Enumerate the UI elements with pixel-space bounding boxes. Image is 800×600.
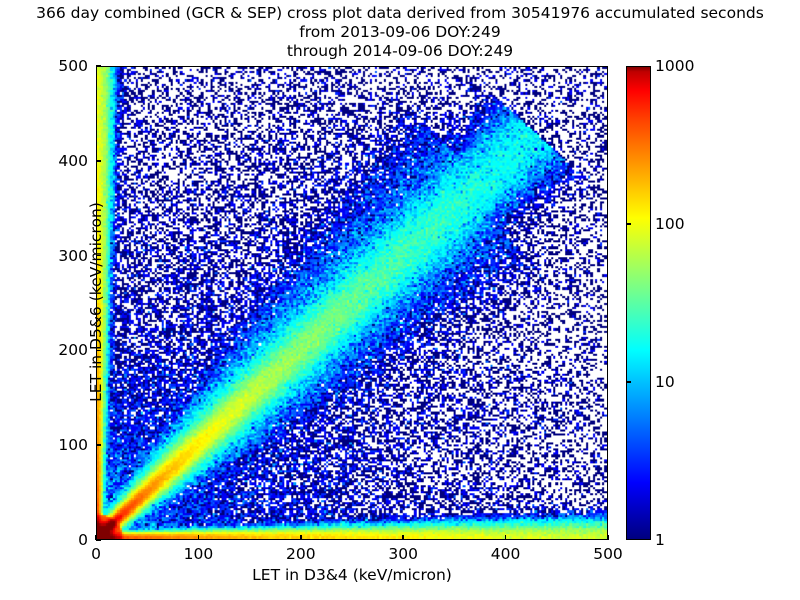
plot-axes-area[interactable] xyxy=(96,66,608,540)
y-tick-label: 0 xyxy=(30,531,88,549)
x-axis-label: LET in D3&4 (keV/micron) xyxy=(96,566,608,584)
x-tick-mark xyxy=(505,535,507,540)
colorbar-tick-label: 10 xyxy=(655,373,675,391)
colorbar-tick-label: 1000 xyxy=(655,57,694,75)
let-cross-plot-figure: 366 day combined (GCR & SEP) cross plot … xyxy=(0,0,800,600)
x-tick-label: 0 xyxy=(91,545,101,563)
x-tick-mark xyxy=(607,535,609,540)
y-tick-label: 200 xyxy=(30,341,88,359)
x-tick-label: 500 xyxy=(593,545,623,563)
colorbar-tick-label: 100 xyxy=(655,215,685,233)
y-tick-label: 100 xyxy=(30,436,88,454)
x-tick-label: 200 xyxy=(286,545,316,563)
density-heatmap-canvas xyxy=(97,67,607,539)
title-line-main: 366 day combined (GCR & SEP) cross plot … xyxy=(0,4,800,23)
y-tick-label: 500 xyxy=(30,57,88,75)
x-tick-label: 400 xyxy=(491,545,521,563)
figure-title: 366 day combined (GCR & SEP) cross plot … xyxy=(0,4,800,61)
title-line-from: from 2013-09-06 DOY:249 xyxy=(0,23,800,42)
colorbar-tick-mark xyxy=(626,223,631,225)
x-tick-mark xyxy=(402,535,404,540)
colorbar-gradient xyxy=(626,66,651,540)
y-tick-mark xyxy=(96,539,101,541)
y-axis-label: LET in D5&6 (keV/micron) xyxy=(87,65,105,539)
colorbar-tick-label: 1 xyxy=(655,531,665,549)
x-tick-label: 300 xyxy=(388,545,418,563)
colorbar-tick-mark xyxy=(626,381,631,383)
x-tick-mark xyxy=(300,535,302,540)
x-tick-label: 100 xyxy=(184,545,214,563)
x-tick-mark xyxy=(198,535,200,540)
y-tick-label: 300 xyxy=(30,247,88,265)
y-tick-label: 400 xyxy=(30,152,88,170)
